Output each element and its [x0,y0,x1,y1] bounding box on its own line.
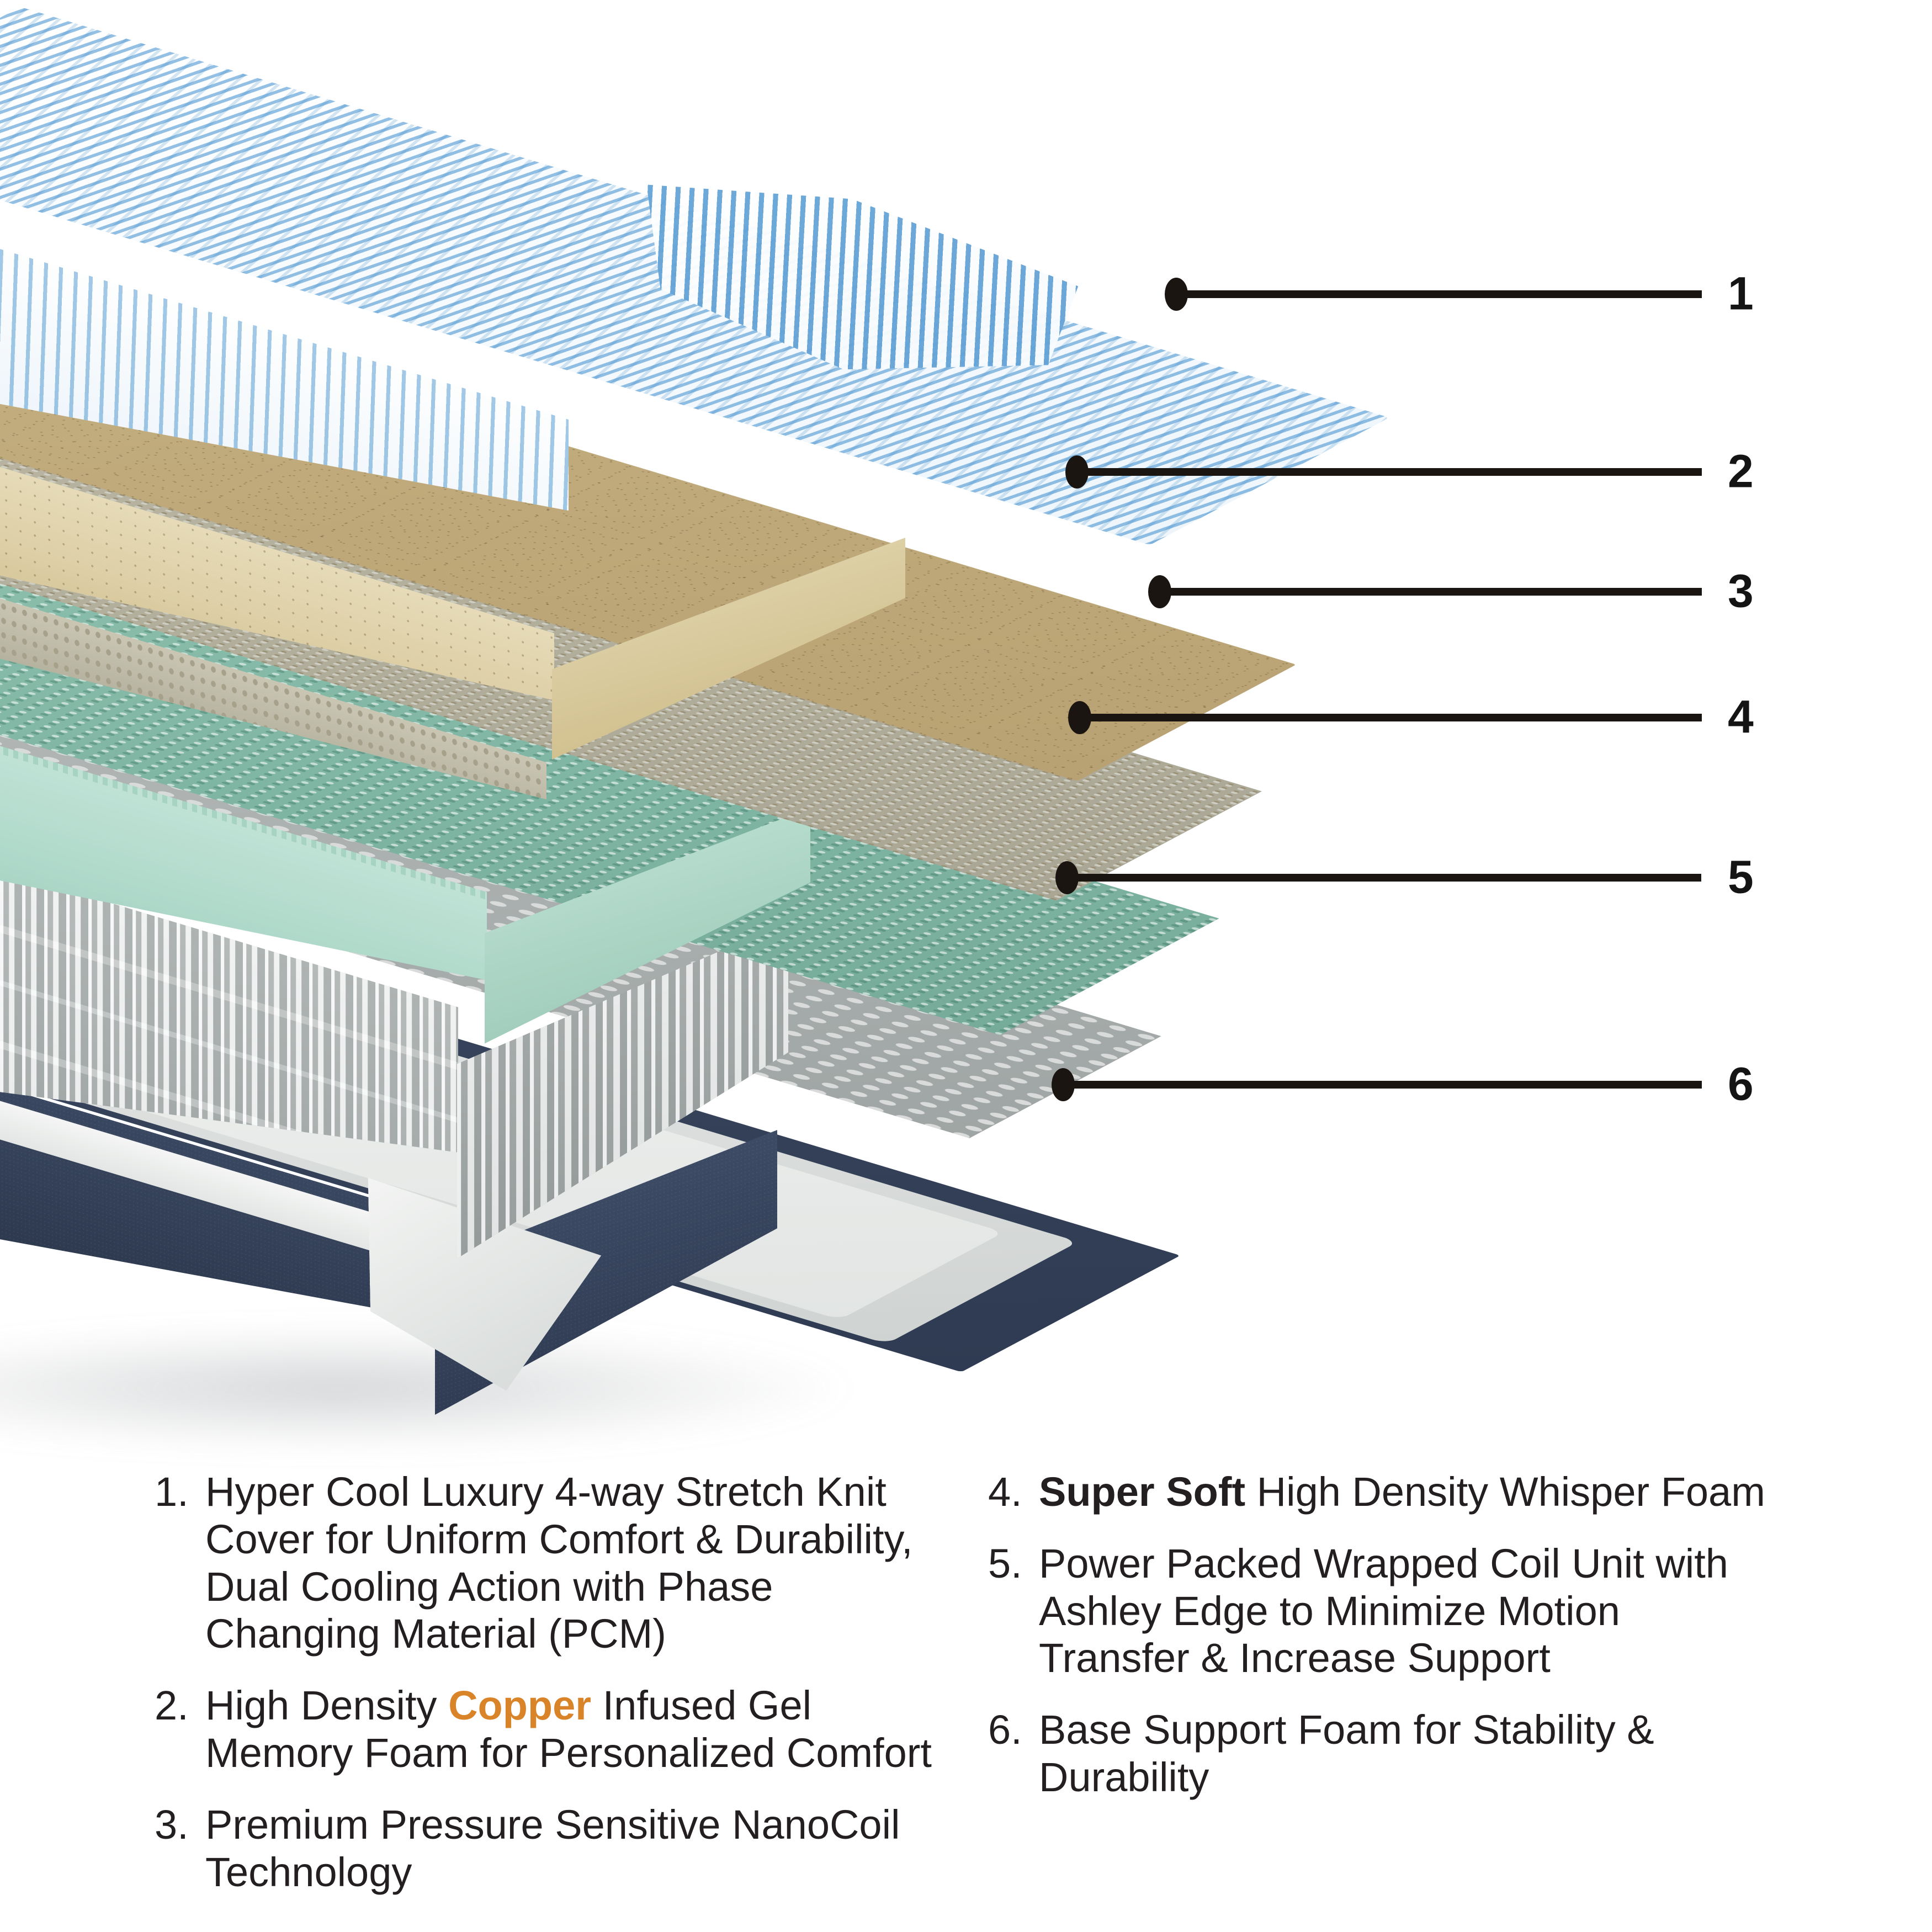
legend-item-4: 4. Super Soft High Density Whisper Foam [988,1468,1772,1516]
legend-number-6: 6. [988,1706,1039,1754]
legend-highlight-super-soft: Super Soft [1039,1469,1245,1515]
legend-text-2: High Density Copper Infused Gel Memory F… [205,1682,938,1777]
legend-text-3-part-0: Premium Pressure Sensitive NanoCoil Tech… [205,1802,900,1895]
callout-number-3: 3 [1728,567,1754,614]
legend-text-1-part-0: Hyper Cool Luxury 4-way Stretch Knit Cov… [205,1469,913,1657]
legend-item-3: 3. Premium Pressure Sensitive NanoCoil T… [155,1801,938,1896]
legend-item-5: 5. Power Packed Wrapped Coil Unit with A… [988,1540,1772,1682]
legend-text-5: Power Packed Wrapped Coil Unit with Ashl… [1039,1540,1772,1682]
diagram-stage: 1 2 3 4 5 6 [0,0,1932,1932]
layer-knit-cover [0,83,1347,580]
callout-number-5: 5 [1728,853,1754,900]
legend-text-4-part-1: High Density Whisper Foam [1245,1469,1765,1515]
legend-item-1: 1. Hyper Cool Luxury 4-way Stretch Knit … [155,1468,938,1658]
legend-item-2: 2. High Density Copper Infused Gel Memor… [155,1682,938,1777]
legend: 1. Hyper Cool Luxury 4-way Stretch Knit … [0,1468,1932,1932]
legend-text-1: Hyper Cool Luxury 4-way Stretch Knit Cov… [205,1468,938,1658]
legend-column-right: 4. Super Soft High Density Whisper Foam … [988,1468,1772,1932]
legend-column-left: 1. Hyper Cool Luxury 4-way Stretch Knit … [155,1468,938,1932]
legend-number-1: 1. [155,1468,205,1516]
legend-number-2: 2. [155,1682,205,1729]
legend-number-5: 5. [988,1540,1039,1588]
legend-text-3: Premium Pressure Sensitive NanoCoil Tech… [205,1801,938,1896]
legend-item-6: 6. Base Support Foam for Stability & Dur… [988,1706,1772,1801]
legend-text-2-part-0: High Density [205,1682,448,1728]
callout-number-4: 4 [1728,693,1754,740]
legend-highlight-copper: Copper [448,1682,591,1728]
exploded-mattress-illustration [0,0,1435,1435]
legend-text-4: Super Soft High Density Whisper Foam [1039,1468,1772,1516]
legend-text-5-part-0: Power Packed Wrapped Coil Unit with Ashl… [1039,1541,1728,1681]
legend-number-4: 4. [988,1468,1039,1516]
callout-number-2: 2 [1728,448,1754,494]
callout-number-1: 1 [1728,270,1754,316]
legend-text-6-part-0: Base Support Foam for Stability & Durabi… [1039,1707,1654,1800]
callout-number-6: 6 [1728,1060,1754,1107]
legend-text-6: Base Support Foam for Stability & Durabi… [1039,1706,1772,1801]
legend-number-3: 3. [155,1801,205,1849]
